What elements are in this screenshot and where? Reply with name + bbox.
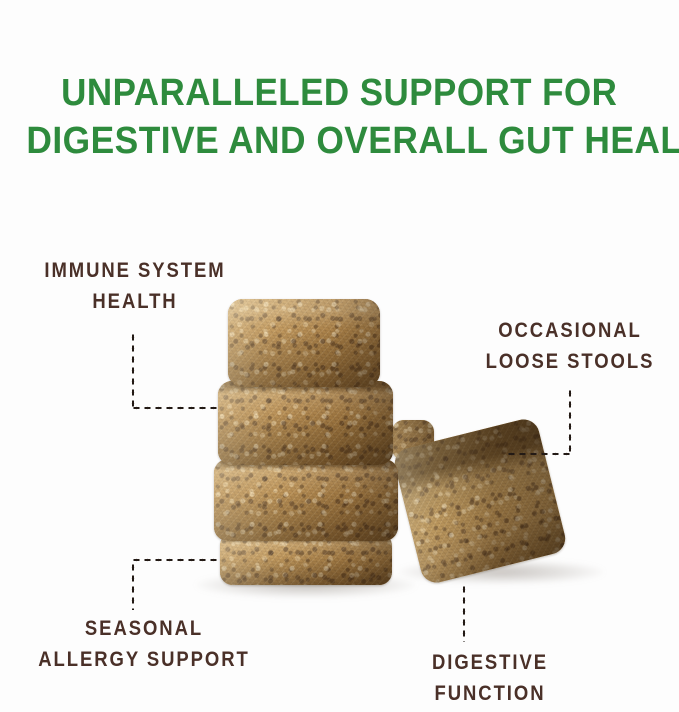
callout-immune-line-2: HEALTH <box>25 286 245 317</box>
callout-label-digestive-function: DIGESTIVE FUNCTION <box>370 647 610 709</box>
callout-digestive-line-2: FUNCTION <box>384 678 595 709</box>
callout-label-immune-system-health: IMMUNE SYSTEM HEALTH <box>10 255 260 317</box>
connector-loose-stools-horizontal <box>506 452 572 456</box>
callout-label-seasonal-allergy-support: SEASONAL ALLERGY SUPPORT <box>0 613 294 675</box>
callout-label-occasional-loose-stools: OCCASIONAL LOOSE STOOLS <box>462 315 678 377</box>
connector-seasonal-vertical <box>131 562 135 610</box>
callout-digestive-line-1: DIGESTIVE <box>384 647 595 678</box>
connector-loose-stools-vertical <box>568 388 572 456</box>
connector-immune-vertical <box>131 332 135 410</box>
connector-digestive-vertical <box>462 584 466 642</box>
callout-seasonal-line-1: SEASONAL <box>12 613 276 644</box>
chew-stack-third <box>214 459 398 541</box>
callout-loose-line-2: LOOSE STOOLS <box>475 346 665 377</box>
callout-loose-line-1: OCCASIONAL <box>475 315 665 346</box>
connector-seasonal-horizontal <box>131 558 221 562</box>
callout-seasonal-line-2: ALLERGY SUPPORT <box>12 644 276 675</box>
infographic-canvas: UNPARALLELED SUPPORT FOR DIGESTIVE AND O… <box>0 0 679 712</box>
callout-immune-line-1: IMMUNE SYSTEM <box>25 255 245 286</box>
connector-immune-horizontal <box>131 406 219 410</box>
chew-stack-second <box>218 381 393 465</box>
